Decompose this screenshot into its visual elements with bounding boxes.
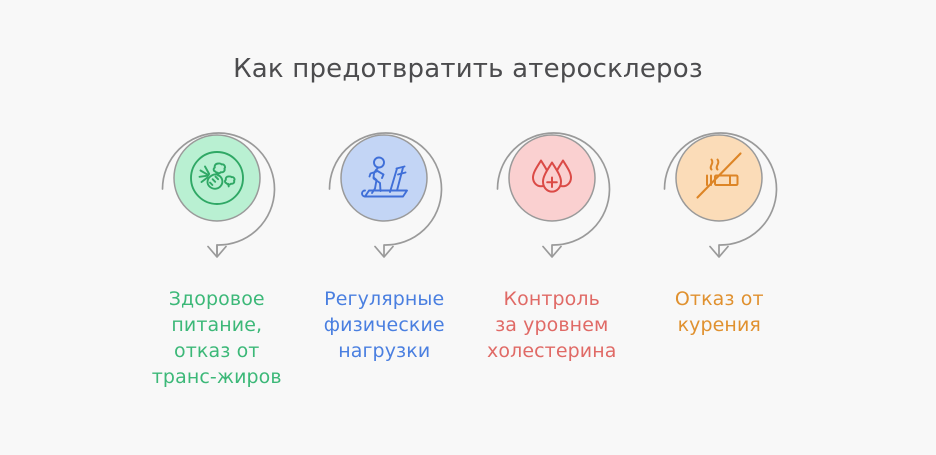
infographic-canvas: Как предотвратить атеросклероз [0,0,936,455]
badge-quit-smoking [654,118,784,264]
caption-cholesterol-control: Контроль за уровнем холестерина [487,286,616,364]
page-title: Как предотвратить атеросклероз [0,54,936,84]
caption-healthy-diet: Здоровое питание, отказ от транс-жиров [152,286,282,390]
caption-quit-smoking: Отказ от курения [675,286,764,338]
step-cholesterol-control: Контроль за уровнем холестерина [468,118,636,364]
caption-physical-activity: Регулярные физические нагрузки [324,286,445,364]
step-physical-activity: Регулярные физические нагрузки [301,118,469,364]
badge-healthy-diet [152,118,282,264]
badge-cholesterol-control [487,118,617,264]
step-healthy-diet: Здоровое питание, отказ от транс-жиров [133,118,301,390]
icon-disc [676,135,762,221]
steps-row: Здоровое питание, отказ от транс-жиров [133,118,803,418]
badge-physical-activity [319,118,449,264]
step-quit-smoking: Отказ от курения [636,118,804,338]
icon-disc [341,135,427,221]
